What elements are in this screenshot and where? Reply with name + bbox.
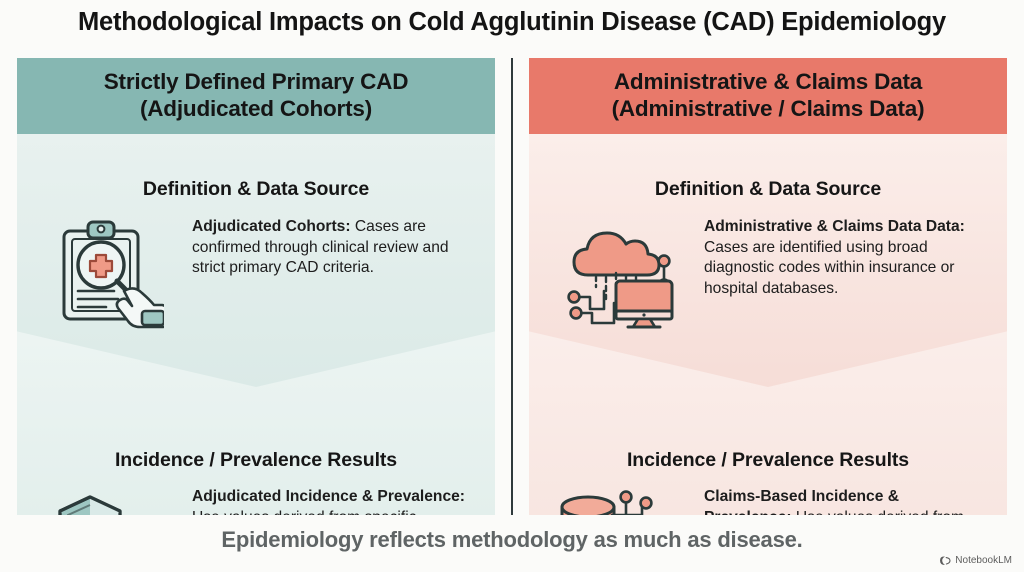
column-divider [511,58,513,515]
column-right-upper-row: Administrative & Claims Data Data: Cases… [529,217,1007,331]
column-right-upper-heading: Definition & Data Source [529,178,1007,201]
column-right-upper-text: Administrative & Claims Data Data: Cases… [704,217,1007,300]
column-strictly-defined-primary-cad: Strictly Defined Primary CAD (Adjudicate… [17,58,495,515]
column-left-lower-text-bold: Adjudicated Incidence & Prevalence: [192,488,465,505]
watermark: NotebookLM [939,555,1012,566]
column-left-header: Strictly Defined Primary CAD (Adjudicate… [17,58,495,134]
footer-tagline: Epidemiology reflects methodology as muc… [0,527,1024,553]
column-right-lower-row: Claims-Based Incidence & Prevalence: Use… [529,487,1007,515]
column-left-upper-text-bold: Adjudicated Cohorts: [192,218,351,235]
column-right-upper-text-body: Cases are identified using broad diagnos… [704,239,955,297]
column-left-lower-heading: Incidence / Prevalence Results [17,449,495,472]
column-right-lower-text: Claims-Based Incidence & Prevalence: Use… [704,487,1007,515]
column-left-upper-heading: Definition & Data Source [17,178,495,201]
shield-caduceus-icon [17,487,192,515]
column-left-header-line2: (Adjudicated Cohorts) [140,96,372,121]
infographic-canvas: Methodological Impacts on Cold Agglutini… [0,0,1024,572]
notebooklm-logo-icon [939,555,951,566]
column-left-lower-row: Adjudicated Incidence & Prevalence: Use … [17,487,495,515]
column-left-header-line1: Strictly Defined Primary CAD [104,69,409,94]
column-left-lower-text-body: Use values derived from specific adjudic… [192,509,416,515]
column-right-header-line1: Administrative & Claims Data [614,69,922,94]
cloud-circuit-monitor-icon [529,217,704,331]
database-funnel-net-circuit-icon [529,487,704,515]
column-right-lower-heading: Incidence / Prevalence Results [529,449,1007,472]
watermark-label: NotebookLM [955,555,1012,566]
column-administrative-claims-data: Administrative & Claims Data (Administra… [529,58,1007,515]
page-title: Methodological Impacts on Cold Agglutini… [0,8,1024,37]
column-left-lower-text: Adjudicated Incidence & Prevalence: Use … [192,487,495,515]
column-right-header: Administrative & Claims Data (Administra… [529,58,1007,134]
column-right-body: Definition & Data Source [529,134,1007,515]
column-right-header-line2: (Administrative / Claims Data) [612,96,925,121]
clipboard-magnifier-medical-cross-icon [17,217,192,331]
column-left-upper-text: Adjudicated Cohorts: Cases are confirmed… [192,217,495,279]
column-left-upper-row: Adjudicated Cohorts: Cases are confirmed… [17,217,495,331]
column-left-body: Definition & Data Source [17,134,495,515]
column-right-upper-text-bold: Administrative & Claims Data Data: [704,218,965,235]
